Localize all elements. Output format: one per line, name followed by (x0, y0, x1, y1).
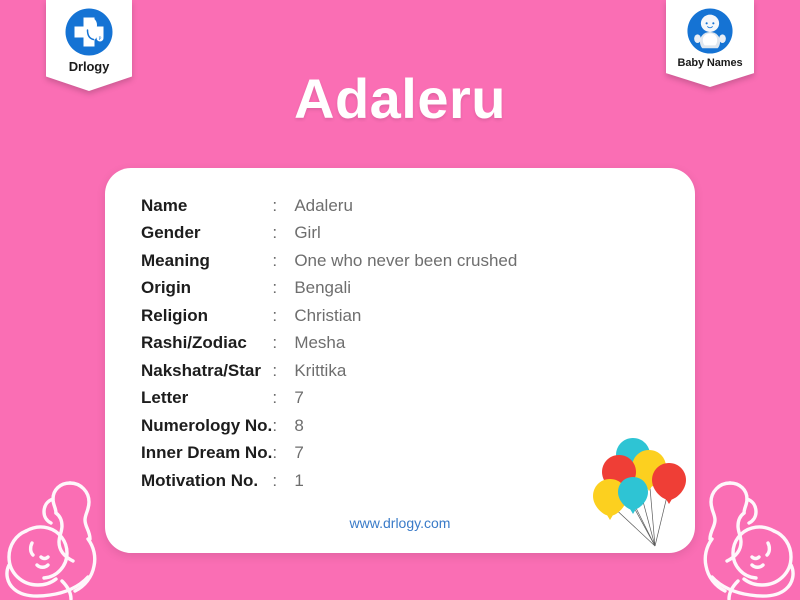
row-label: Numerology No. (141, 412, 272, 440)
row-label: Name (141, 192, 272, 220)
row-value: Krittika (294, 357, 517, 385)
row-label: Origin (141, 275, 272, 303)
row-separator: : (272, 412, 294, 440)
poster-canvas: P Drlogy Baby Names Adaleru (0, 0, 800, 600)
table-row: Meaning : One who never been crushed (141, 247, 517, 275)
page-title: Adaleru (0, 66, 800, 131)
row-label: Meaning (141, 247, 272, 275)
website-url-link[interactable]: www.drlogy.com (105, 515, 695, 531)
svg-text:P: P (99, 37, 102, 42)
row-value: Christian (294, 302, 517, 330)
row-label: Rashi/Zodiac (141, 330, 272, 358)
table-row: Motivation No. : 1 (141, 467, 517, 495)
name-details-card: Name : Adaleru Gender : Girl Meaning : O… (105, 168, 695, 553)
table-row: Origin : Bengali (141, 275, 517, 303)
row-label: Inner Dream No. (141, 440, 272, 468)
table-row: Name : Adaleru (141, 192, 517, 220)
name-details-table: Name : Adaleru Gender : Girl Meaning : O… (141, 192, 517, 495)
mother-and-baby-outline-icon (689, 465, 800, 600)
row-separator: : (272, 385, 294, 413)
row-label: Motivation No. (141, 467, 272, 495)
row-separator: : (272, 247, 294, 275)
row-separator: : (272, 302, 294, 330)
table-row: Inner Dream No. : 7 (141, 440, 517, 468)
row-label: Nakshatra/Star (141, 357, 272, 385)
row-separator: : (272, 440, 294, 468)
table-row: Religion : Christian (141, 302, 517, 330)
row-value: 7 (294, 385, 517, 413)
row-value: Girl (294, 220, 517, 248)
row-value: Bengali (294, 275, 517, 303)
row-value: Mesha (294, 330, 517, 358)
row-value: 7 (294, 440, 517, 468)
row-value: One who never been crushed (294, 247, 517, 275)
row-label: Gender (141, 220, 272, 248)
table-body: Name : Adaleru Gender : Girl Meaning : O… (141, 192, 517, 495)
baby-silhouette-logo-icon (686, 7, 734, 55)
row-separator: : (272, 357, 294, 385)
row-separator: : (272, 330, 294, 358)
table-row: Letter : 7 (141, 385, 517, 413)
mother-and-baby-outline-icon (0, 465, 111, 600)
row-label: Letter (141, 385, 272, 413)
table-row: Numerology No. : 8 (141, 412, 517, 440)
table-row: Rashi/Zodiac : Mesha (141, 330, 517, 358)
row-value: Adaleru (294, 192, 517, 220)
table-row: Gender : Girl (141, 220, 517, 248)
row-label: Religion (141, 302, 272, 330)
balloons-illustration-icon (589, 428, 695, 553)
row-separator: : (272, 192, 294, 220)
row-separator: : (272, 220, 294, 248)
row-value: 8 (294, 412, 517, 440)
row-value: 1 (294, 467, 517, 495)
table-row: Nakshatra/Star : Krittika (141, 357, 517, 385)
row-separator: : (272, 467, 294, 495)
row-separator: : (272, 275, 294, 303)
drlogy-doctor-logo-icon: P (64, 7, 114, 57)
